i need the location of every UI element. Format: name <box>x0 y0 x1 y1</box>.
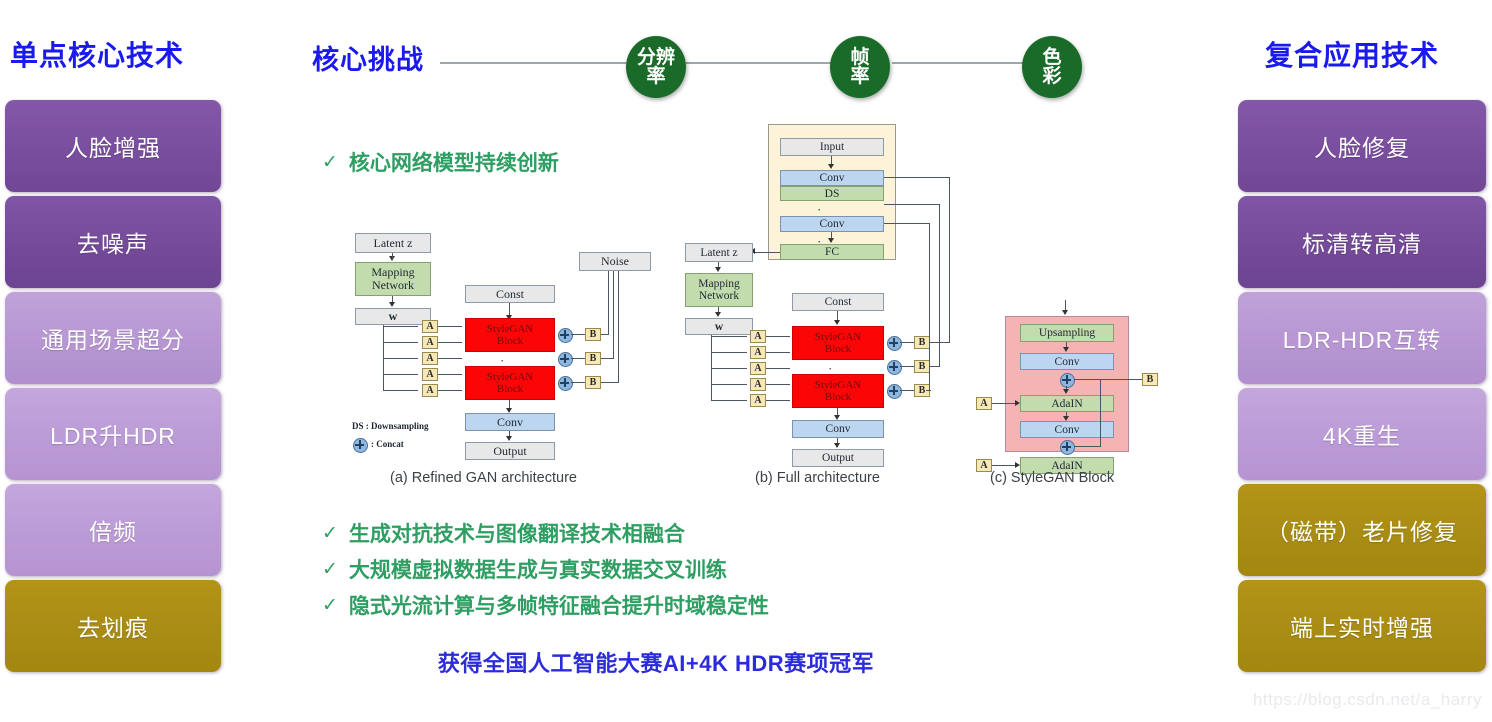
award-label: 获得全国人工智能大赛AI+4K HDR赛项冠军 <box>438 646 874 678</box>
bullet-label: 大规模虚拟数据生成与真实数据交叉训练 <box>349 554 727 584</box>
connector <box>613 271 614 358</box>
figure-a-caption: (a) Refined GAN architecture <box>390 470 577 486</box>
figure-b-caption: (b) Full architecture <box>755 470 880 486</box>
architecture-figures: Latent z Mapping Network w Const Noise A… <box>330 120 1180 495</box>
connector <box>438 358 462 359</box>
connector <box>601 382 619 383</box>
node-conv-1: Conv <box>1020 353 1114 370</box>
right-column-title: 复合应用技术 <box>1265 34 1439 74</box>
bullet-virtual-data: ✓ 大规模虚拟数据生成与真实数据交叉训练 <box>322 554 769 584</box>
node-conv-2: Conv <box>780 216 884 232</box>
connector <box>711 336 747 337</box>
node-fc: FC <box>780 244 884 260</box>
node-a-1: A <box>750 330 766 343</box>
node-conv-1: Conv <box>780 170 884 186</box>
chip-line-2: 彩 <box>1042 67 1061 86</box>
concat-icon-3 <box>558 376 573 391</box>
connector <box>608 271 609 334</box>
connector <box>1074 379 1142 380</box>
node-noise: Noise <box>579 252 651 271</box>
connector <box>383 390 418 391</box>
right-item-old-film-restore[interactable]: （磁带）老片修复 <box>1238 484 1486 576</box>
node-stylegan-block-1: StyleGAN Block <box>465 318 555 352</box>
mapping-line-1: Mapping <box>698 278 740 290</box>
concat-icon-2 <box>887 360 902 375</box>
rail-segment-3 <box>892 62 1040 64</box>
connector <box>884 204 940 205</box>
connector <box>884 223 930 224</box>
node-a-3: A <box>750 362 766 375</box>
watermark: https://blog.csdn.net/a_harry <box>1253 690 1482 710</box>
connector <box>383 358 418 359</box>
connector <box>383 326 418 327</box>
legend-concat-label: : Concat <box>371 439 404 449</box>
challenge-chip-color[interactable]: 色 彩 <box>1022 36 1082 98</box>
arrow-icon <box>1062 310 1068 315</box>
check-icon: ✓ <box>322 594 338 617</box>
node-ds: DS <box>780 186 884 201</box>
node-latent-z: Latent z <box>355 233 431 253</box>
node-a-1: A <box>422 320 438 333</box>
chip-line-2: 率 <box>637 67 675 86</box>
arrow-icon <box>389 302 395 307</box>
node-input: Input <box>780 138 884 156</box>
arrow-icon <box>828 164 834 169</box>
left-item-face-enhance[interactable]: 人脸增强 <box>5 100 221 192</box>
rail-segment-2 <box>686 62 836 64</box>
arrow-icon <box>715 267 721 272</box>
connector <box>1100 379 1101 446</box>
right-item-sd-to-hd[interactable]: 标清转高清 <box>1238 196 1486 288</box>
legend-downsampling: DS : Downsampling <box>352 421 429 431</box>
left-technology-list: 人脸增强 去噪声 通用场景超分 LDR升HDR 倍频 去划痕 <box>5 100 221 672</box>
right-item-4k-rebirth[interactable]: 4K重生 <box>1238 388 1486 480</box>
node-conv: Conv <box>465 413 555 431</box>
connector <box>949 177 950 342</box>
connector <box>438 342 462 343</box>
connector <box>930 366 940 367</box>
node-a-5: A <box>750 394 766 407</box>
node-b-1: B <box>1142 373 1158 386</box>
right-technology-list: 人脸修复 标清转高清 LDR-HDR互转 4K重生 （磁带）老片修复 端上实时增… <box>1238 100 1486 672</box>
left-column-title: 单点核心技术 <box>10 34 184 74</box>
node-a-4: A <box>422 368 438 381</box>
node-b-2: B <box>585 352 601 365</box>
left-item-ldr-to-hdr[interactable]: LDR升HDR <box>5 388 221 480</box>
node-a-3: A <box>422 352 438 365</box>
chip-line-1: 分辨 <box>637 48 675 67</box>
node-b-1: B <box>585 328 601 341</box>
connector <box>571 334 585 335</box>
node-stylegan-block-1: StyleGAN Block <box>792 326 884 360</box>
concat-icon-1 <box>887 336 902 351</box>
arrow-icon <box>834 320 840 325</box>
left-item-frame-interp[interactable]: 倍频 <box>5 484 221 576</box>
node-latent-z: Latent z <box>685 243 753 262</box>
award-banner: 获得全国人工智能大赛AI+4K HDR赛项冠军 <box>0 646 1492 678</box>
concat-icon-2 <box>558 352 573 367</box>
connector <box>438 374 462 375</box>
rail-segment-1 <box>440 62 626 64</box>
connector <box>766 336 790 337</box>
connector <box>900 342 914 343</box>
connector <box>992 403 1016 404</box>
chip-line-2: 率 <box>850 67 869 86</box>
legend-concat-icon <box>353 438 368 453</box>
concat-icon-1 <box>1060 373 1075 388</box>
bullet-optical-flow: ✓ 隐式光流计算与多帧特征融合提升时域稳定性 <box>322 590 769 620</box>
bullet-gan-fusion: ✓ 生成对抗技术与图像翻译技术相融合 <box>322 518 769 548</box>
arrow-icon <box>715 312 721 317</box>
connector <box>438 326 462 327</box>
connector <box>900 366 914 367</box>
connector <box>618 271 619 382</box>
node-b-2: B <box>914 360 930 373</box>
connector <box>929 223 930 390</box>
connector <box>766 384 790 385</box>
figure-c-caption: (c) StyleGAN Block <box>990 470 1114 486</box>
stylegan-line-2: Block <box>825 343 851 355</box>
challenge-chip-resolution[interactable]: 分辨 率 <box>626 36 686 98</box>
connector <box>711 368 747 369</box>
connector <box>383 374 418 375</box>
arrow-icon <box>1063 347 1069 352</box>
node-a-5: A <box>422 384 438 397</box>
connector <box>766 368 790 369</box>
node-mapping-network: Mapping Network <box>685 273 753 307</box>
connector <box>711 400 747 401</box>
center-column-title: 核心挑战 <box>312 38 424 77</box>
bottom-bullet-list: ✓ 生成对抗技术与图像翻译技术相融合 ✓ 大规模虚拟数据生成与真实数据交叉训练 … <box>322 518 769 620</box>
node-stylegan-block-2: StyleGAN Block <box>465 366 555 400</box>
arrow-icon <box>1063 389 1069 394</box>
left-item-denoise[interactable]: 去噪声 <box>5 196 221 288</box>
challenge-chip-framerate[interactable]: 帧 率 <box>830 36 890 98</box>
connector <box>711 352 747 353</box>
node-stylegan-block-2: StyleGAN Block <box>792 374 884 408</box>
arrow-icon <box>828 238 834 243</box>
arrow-icon <box>1015 400 1020 406</box>
stylegan-line-2: Block <box>497 335 523 347</box>
connector <box>392 253 393 259</box>
stylegan-line-2: Block <box>497 383 523 395</box>
chip-line-1: 色 <box>1042 48 1061 67</box>
connector <box>766 352 790 353</box>
stylegan-line-1: StyleGAN <box>487 323 533 335</box>
node-a-2: A <box>750 346 766 359</box>
chip-line-1: 帧 <box>850 48 869 67</box>
node-b-1: B <box>914 336 930 349</box>
connector <box>438 390 462 391</box>
arrow-icon <box>506 436 512 441</box>
stylegan-line-1: StyleGAN <box>815 331 861 343</box>
concat-icon-3 <box>887 384 902 399</box>
connector <box>926 390 931 391</box>
connector <box>766 400 790 401</box>
mapping-line-2: Network <box>699 290 739 302</box>
connector <box>571 382 585 383</box>
node-output: Output <box>792 449 884 467</box>
node-w: w <box>685 318 753 335</box>
connector <box>939 204 940 366</box>
node-mapping-network: Mapping Network <box>355 262 431 296</box>
connector <box>900 390 914 391</box>
node-conv: Conv <box>792 420 884 438</box>
left-item-general-sr[interactable]: 通用场景超分 <box>5 292 221 384</box>
connector <box>755 252 780 253</box>
concat-icon-1 <box>558 328 573 343</box>
arrow-icon <box>834 443 840 448</box>
check-icon: ✓ <box>322 558 338 581</box>
stylegan-line-1: StyleGAN <box>487 371 533 383</box>
connector <box>571 358 585 359</box>
node-const: Const <box>792 293 884 311</box>
node-a-4: A <box>750 378 766 391</box>
concat-icon-2 <box>1060 440 1075 455</box>
node-a-2: A <box>422 336 438 349</box>
arrow-icon <box>1015 462 1020 468</box>
connector <box>884 177 950 178</box>
connector <box>383 342 418 343</box>
check-icon: ✓ <box>322 522 338 545</box>
connector <box>711 384 747 385</box>
connector <box>992 465 1016 466</box>
node-upsampling: Upsampling <box>1020 324 1114 342</box>
right-item-face-restore[interactable]: 人脸修复 <box>1238 100 1486 192</box>
node-w: w <box>355 308 431 325</box>
node-output: Output <box>465 442 555 460</box>
stylegan-line-1: StyleGAN <box>815 379 861 391</box>
node-a-1: A <box>976 397 992 410</box>
bullet-label: 隐式光流计算与多帧特征融合提升时域稳定性 <box>349 590 769 620</box>
connector <box>601 334 609 335</box>
right-item-ldr-hdr-convert[interactable]: LDR-HDR互转 <box>1238 292 1486 384</box>
mapping-line-2: Network <box>372 279 414 292</box>
stylegan-line-2: Block <box>825 391 851 403</box>
node-const: Const <box>465 285 555 303</box>
connector <box>601 358 614 359</box>
connector <box>1074 446 1101 447</box>
bullet-label: 生成对抗技术与图像翻译技术相融合 <box>349 518 685 548</box>
core-challenge-rail: 分辨 率 帧 率 色 彩 <box>440 18 1100 104</box>
node-b-3: B <box>585 376 601 389</box>
